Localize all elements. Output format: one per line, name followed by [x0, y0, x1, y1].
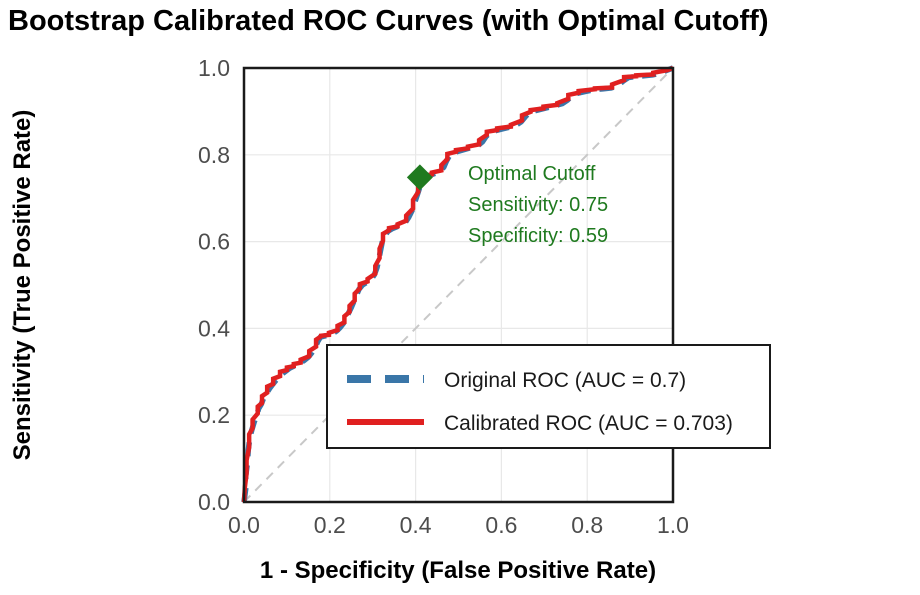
- y-tick-label: 0.4: [198, 315, 230, 341]
- roc-chart-figure: Bootstrap Calibrated ROC Curves (with Op…: [0, 0, 920, 595]
- x-tick-label: 0.2: [314, 512, 346, 538]
- y-tick-label: 0.8: [198, 142, 230, 168]
- y-tick-label: 1.0: [198, 55, 230, 81]
- optimal-cutoff-annotation: Optimal Cutoff Sensitivity: 0.75 Specifi…: [468, 163, 608, 247]
- legend-item-label: Calibrated ROC (AUC = 0.703): [444, 412, 733, 435]
- x-tick-label: 1.0: [657, 512, 689, 538]
- y-tick-label: 0.0: [198, 489, 230, 515]
- x-axis-title: 1 - Specificity (False Positive Rate): [260, 557, 656, 584]
- chart-legend[interactable]: Original ROC (AUC = 0.7)Calibrated ROC (…: [327, 345, 770, 448]
- x-tick-label: 0.4: [400, 512, 432, 538]
- optimal-cutoff-title: Optimal Cutoff: [468, 163, 596, 185]
- optimal-cutoff-sensitivity: Sensitivity: 0.75: [468, 194, 608, 216]
- x-tick-label: 0.0: [228, 512, 260, 538]
- page-title: Bootstrap Calibrated ROC Curves (with Op…: [8, 5, 768, 37]
- y-axis-title: Sensitivity (True Positive Rate): [9, 110, 36, 461]
- figure-background: [0, 0, 920, 595]
- legend-item-label: Original ROC (AUC = 0.7): [444, 369, 686, 392]
- y-tick-label: 0.6: [198, 229, 230, 255]
- optimal-cutoff-specificity: Specificity: 0.59: [468, 225, 608, 247]
- x-tick-label: 0.8: [571, 512, 603, 538]
- x-tick-label: 0.6: [485, 512, 517, 538]
- y-tick-label: 0.2: [198, 402, 230, 428]
